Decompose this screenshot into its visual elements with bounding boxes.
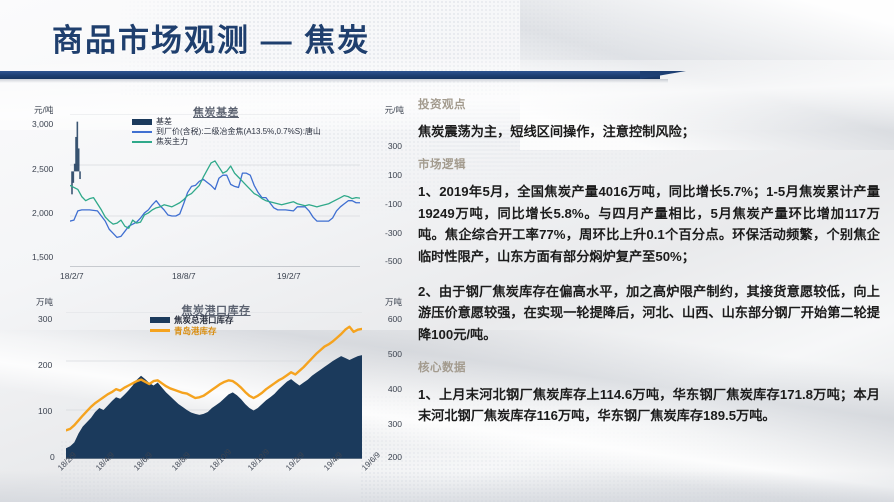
section-text-investment-view-0: 焦炭震荡为主，短线区间操作，注意控制风险；: [418, 121, 880, 142]
chart2-xtick-0: 18/2/9: [56, 450, 78, 472]
chart1-ytick-right-3: -300: [385, 228, 402, 238]
chart1-right-axis-unit: 元/吨: [385, 104, 404, 116]
chart1-ytick-right-0: 300: [388, 141, 402, 151]
section-text-market-logic-1: 2、由于钢厂焦炭库存在偏高水平，加之高炉限产制约，其接货意愿较低，向上游压价意愿…: [418, 281, 880, 345]
section-heading-core-data: 核心数据: [418, 359, 880, 375]
slide-root: 商品市场观测 — 焦炭 焦炭基差 元/吨 元/吨 基差 到厂价(含税):二级冶金…: [0, 0, 894, 502]
title-accent-bar: [0, 71, 700, 82]
chart2-ytick-left-0: 300: [38, 314, 52, 324]
chart2-ytick-left-2: 100: [38, 406, 52, 416]
chart-coke-port-inventory: 焦炭港口库存 万吨 万吨 焦炭总港口库存 青岛港库存 300 200 100 0…: [22, 292, 410, 497]
section-heading-market-logic: 市场逻辑: [418, 156, 880, 172]
chart2-xtick-8: 19/6/9: [360, 450, 382, 472]
chart1-plot-area: [70, 114, 360, 267]
chart1-xtick-2: 19/2/7: [277, 271, 301, 281]
chart1-left-axis-unit: 元/吨: [34, 104, 53, 116]
chart1-xtick-1: 18/8/7: [172, 271, 196, 281]
chart1-ytick-right-4: -500: [385, 256, 402, 266]
chart2-ytick-right-3: 300: [388, 419, 402, 429]
chart2-plot-area: [66, 312, 362, 459]
chart2-ytick-left-3: 0: [50, 452, 55, 462]
chart1-ytick-left-3: 1,500: [32, 252, 53, 262]
chart2-ytick-right-0: 600: [388, 314, 402, 324]
section-market-logic: 市场逻辑 1、2019年5月，全国焦炭产量4016万吨，同比增长5.7%；1-5…: [418, 156, 880, 345]
chart2-ytick-right-4: 200: [388, 452, 402, 462]
section-core-data: 核心数据 1、上月末河北钢厂焦炭库存上114.6万吨，华东钢厂焦炭库存171.8…: [418, 359, 880, 427]
section-text-market-logic-0: 1、2019年5月，全国焦炭产量4016万吨，同比增长5.7%；1-5月焦炭累计…: [418, 181, 880, 267]
chart2-ytick-left-1: 200: [38, 360, 52, 370]
chart2-right-axis-unit: 万吨: [385, 296, 402, 308]
analysis-panel: 投资观点 焦炭震荡为主，短线区间操作，注意控制风险； 市场逻辑 1、2019年5…: [418, 96, 880, 496]
chart1-xtick-0: 18/2/7: [60, 271, 84, 281]
chart2-ytick-right-1: 500: [388, 349, 402, 359]
chart1-ytick-left-1: 2,500: [32, 164, 53, 174]
chart1-ytick-right-1: 100: [388, 170, 402, 180]
chart-coke-basis: 焦炭基差 元/吨 元/吨 基差 到厂价(含税):二级冶金焦(A13.5%,0.7…: [22, 96, 410, 286]
section-text-core-data-0: 1、上月末河北钢厂焦炭库存上114.6万吨，华东钢厂焦炭库存171.8万吨；本月…: [418, 384, 880, 427]
section-heading-investment-view: 投资观点: [418, 96, 880, 112]
chart2-ytick-right-2: 400: [388, 384, 402, 394]
page-title: 商品市场观测 — 焦炭: [52, 15, 370, 60]
chart1-ytick-right-2: -100: [385, 199, 402, 209]
chart2-left-axis-unit: 万吨: [36, 296, 53, 308]
chart1-ytick-left-0: 3,000: [32, 119, 53, 129]
section-investment-view: 投资观点 焦炭震荡为主，短线区间操作，注意控制风险；: [418, 96, 880, 142]
chart1-ytick-left-2: 2,000: [32, 208, 53, 218]
